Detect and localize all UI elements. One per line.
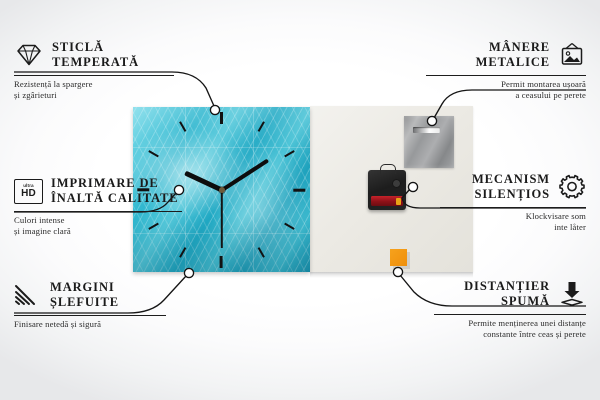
hanger-keyhole-slot bbox=[413, 127, 440, 133]
callout-subtitle: Permite menținerea unei distanțe constan… bbox=[434, 318, 586, 342]
callout-rule bbox=[434, 314, 586, 315]
quartz-mechanism bbox=[368, 170, 406, 210]
callout-hd-print: ultra HD IMPRIMARE DE ÎNALTĂ CALITATE Cu… bbox=[14, 176, 182, 238]
callout-title: STICLĂ TEMPERATĂ bbox=[52, 40, 139, 71]
callout-silent-mechanism: MECANISM SILENȚIOS Klockvisare som inte … bbox=[440, 172, 586, 234]
callout-rule bbox=[14, 75, 174, 76]
callout-rule bbox=[426, 75, 586, 76]
callout-title: DISTANȚIER SPUMĂ bbox=[464, 279, 550, 310]
battery bbox=[371, 196, 403, 206]
callout-rule bbox=[440, 207, 586, 208]
callout-subtitle: Rezistență la spargere și zgârieturi bbox=[14, 79, 174, 103]
callout-subtitle: Culori intense și imagine clară bbox=[14, 215, 182, 239]
callout-rule bbox=[14, 315, 166, 316]
picture-frame-hanger-icon bbox=[558, 42, 586, 68]
hands-center-cap bbox=[219, 187, 225, 193]
metal-hanger-plate-icon bbox=[404, 116, 454, 168]
arrow-down-onto-pad-icon bbox=[558, 280, 586, 308]
callout-title: IMPRIMARE DE ÎNALTĂ CALITATE bbox=[51, 176, 179, 207]
callout-polished-edges: MARGINI ȘLEFUITE Finisare netedă și sigu… bbox=[14, 280, 166, 330]
callout-subtitle: Permit montarea ușoară a ceasului pe per… bbox=[426, 79, 586, 103]
diamond-icon bbox=[14, 43, 44, 67]
mechanism-adjust-dial bbox=[392, 179, 401, 188]
callout-title: MÂNERE METALICE bbox=[476, 40, 550, 71]
gear-icon bbox=[558, 174, 586, 201]
second-hand bbox=[221, 190, 223, 248]
callout-subtitle: Finisare netedă și sigură bbox=[14, 319, 166, 331]
callout-rule bbox=[14, 211, 182, 212]
ultra-hd-badge-icon: ultra HD bbox=[14, 179, 43, 204]
mechanism-hanging-loop bbox=[380, 164, 396, 174]
callout-title: MECANISM SILENȚIOS bbox=[472, 172, 550, 203]
infographic-canvas: STICLĂ TEMPERATĂ Rezistență la spargere … bbox=[0, 0, 600, 400]
callout-foam-spacer: DISTANȚIER SPUMĂ Permite menținerea unei… bbox=[434, 279, 586, 341]
callout-metal-handles: MÂNERE METALICE Permit montarea ușoară a… bbox=[426, 40, 586, 102]
callout-subtitle: Klockvisare som inte låter bbox=[440, 211, 586, 235]
foam-spacer-pad bbox=[390, 249, 407, 266]
callout-title: MARGINI ȘLEFUITE bbox=[50, 280, 119, 311]
callout-tempered-glass: STICLĂ TEMPERATĂ Rezistență la spargere … bbox=[14, 40, 174, 102]
diagonal-stripes-icon bbox=[14, 283, 42, 307]
